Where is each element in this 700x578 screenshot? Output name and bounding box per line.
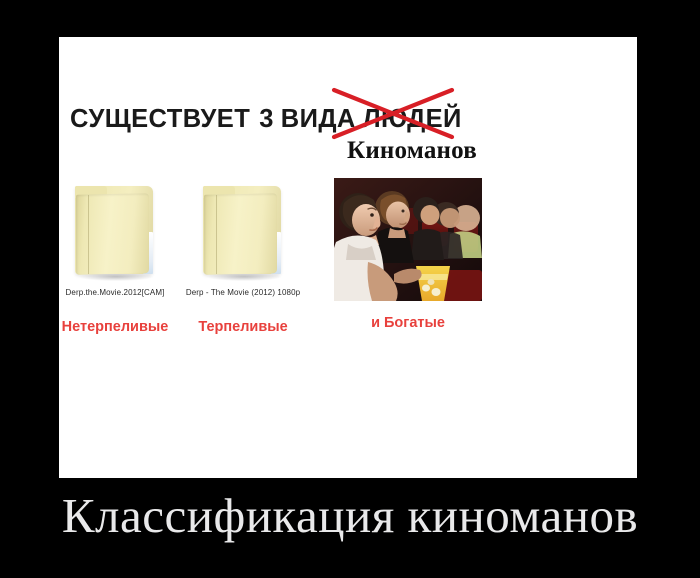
item-category-label: Нетерпеливые: [45, 319, 185, 335]
item-impatient: Derp.the.Movie.2012[CAM] Нетерпеливые: [45, 178, 185, 335]
headline-part-2: ВИДА: [281, 105, 356, 133]
item-filename: Derp - The Movie (2012) 1080p: [173, 288, 313, 297]
item-category-label: и Богатые: [318, 315, 498, 331]
cinema-audience-photo: [334, 178, 482, 301]
headline-crossed-word: ЛЮДЕЙ: [363, 99, 462, 139]
headline: СУЩЕСТВУЕТ3ВИДАЛЮДЕЙ: [70, 99, 540, 139]
item-filename: Derp.the.Movie.2012[CAM]: [45, 288, 185, 297]
item-rich: и Богатые: [318, 178, 498, 331]
demotivator-poster: СУЩЕСТВУЕТ3ВИДАЛЮДЕЙ Киноманов Derp.the.…: [0, 0, 700, 578]
item-patient: Derp - The Movie (2012) 1080p Терпеливые: [173, 178, 313, 335]
folder-icon: [197, 178, 289, 282]
headline-part-1: СУЩЕСТВУЕТ: [70, 105, 250, 133]
item-category-label: Терпеливые: [173, 319, 313, 335]
folder-icon: [69, 178, 161, 282]
headline-count: 3: [259, 105, 274, 133]
poster-caption: Классификация киноманов: [0, 487, 700, 544]
headline-replacement-word: Киноманов: [347, 137, 477, 165]
